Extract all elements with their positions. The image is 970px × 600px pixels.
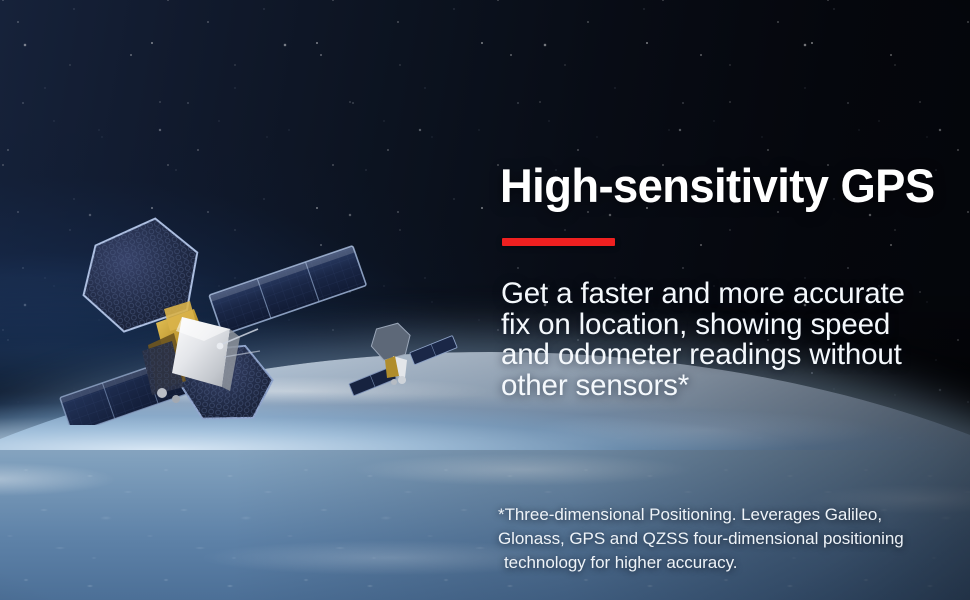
- description-line: Get a faster and more accurate: [501, 279, 961, 310]
- feature-description: Get a faster and more accurate fix on lo…: [501, 279, 961, 401]
- footnote-line: technology for higher accuracy.: [498, 551, 968, 575]
- description-line: other sensors*: [501, 371, 961, 402]
- communications-satellite: [44, 205, 374, 425]
- gps-feature-banner: High-sensitivity GPS Get a faster and mo…: [0, 0, 970, 600]
- footnote-disclaimer: *Three-dimensional Positioning. Leverage…: [498, 503, 968, 575]
- page-title: High-sensitivity GPS: [500, 162, 934, 211]
- accent-divider: [502, 238, 615, 246]
- footnote-line: *Three-dimensional Positioning. Leverage…: [498, 503, 968, 527]
- footnote-line: Glonass, GPS and QZSS four-dimensional p…: [498, 527, 968, 551]
- description-line: and odometer readings without: [501, 340, 961, 371]
- solar-panel-upper-right: [209, 246, 366, 335]
- distant-mesh-antenna: [368, 322, 413, 362]
- description-line: fix on location, showing speed: [501, 310, 961, 341]
- distant-satellite: [345, 322, 463, 406]
